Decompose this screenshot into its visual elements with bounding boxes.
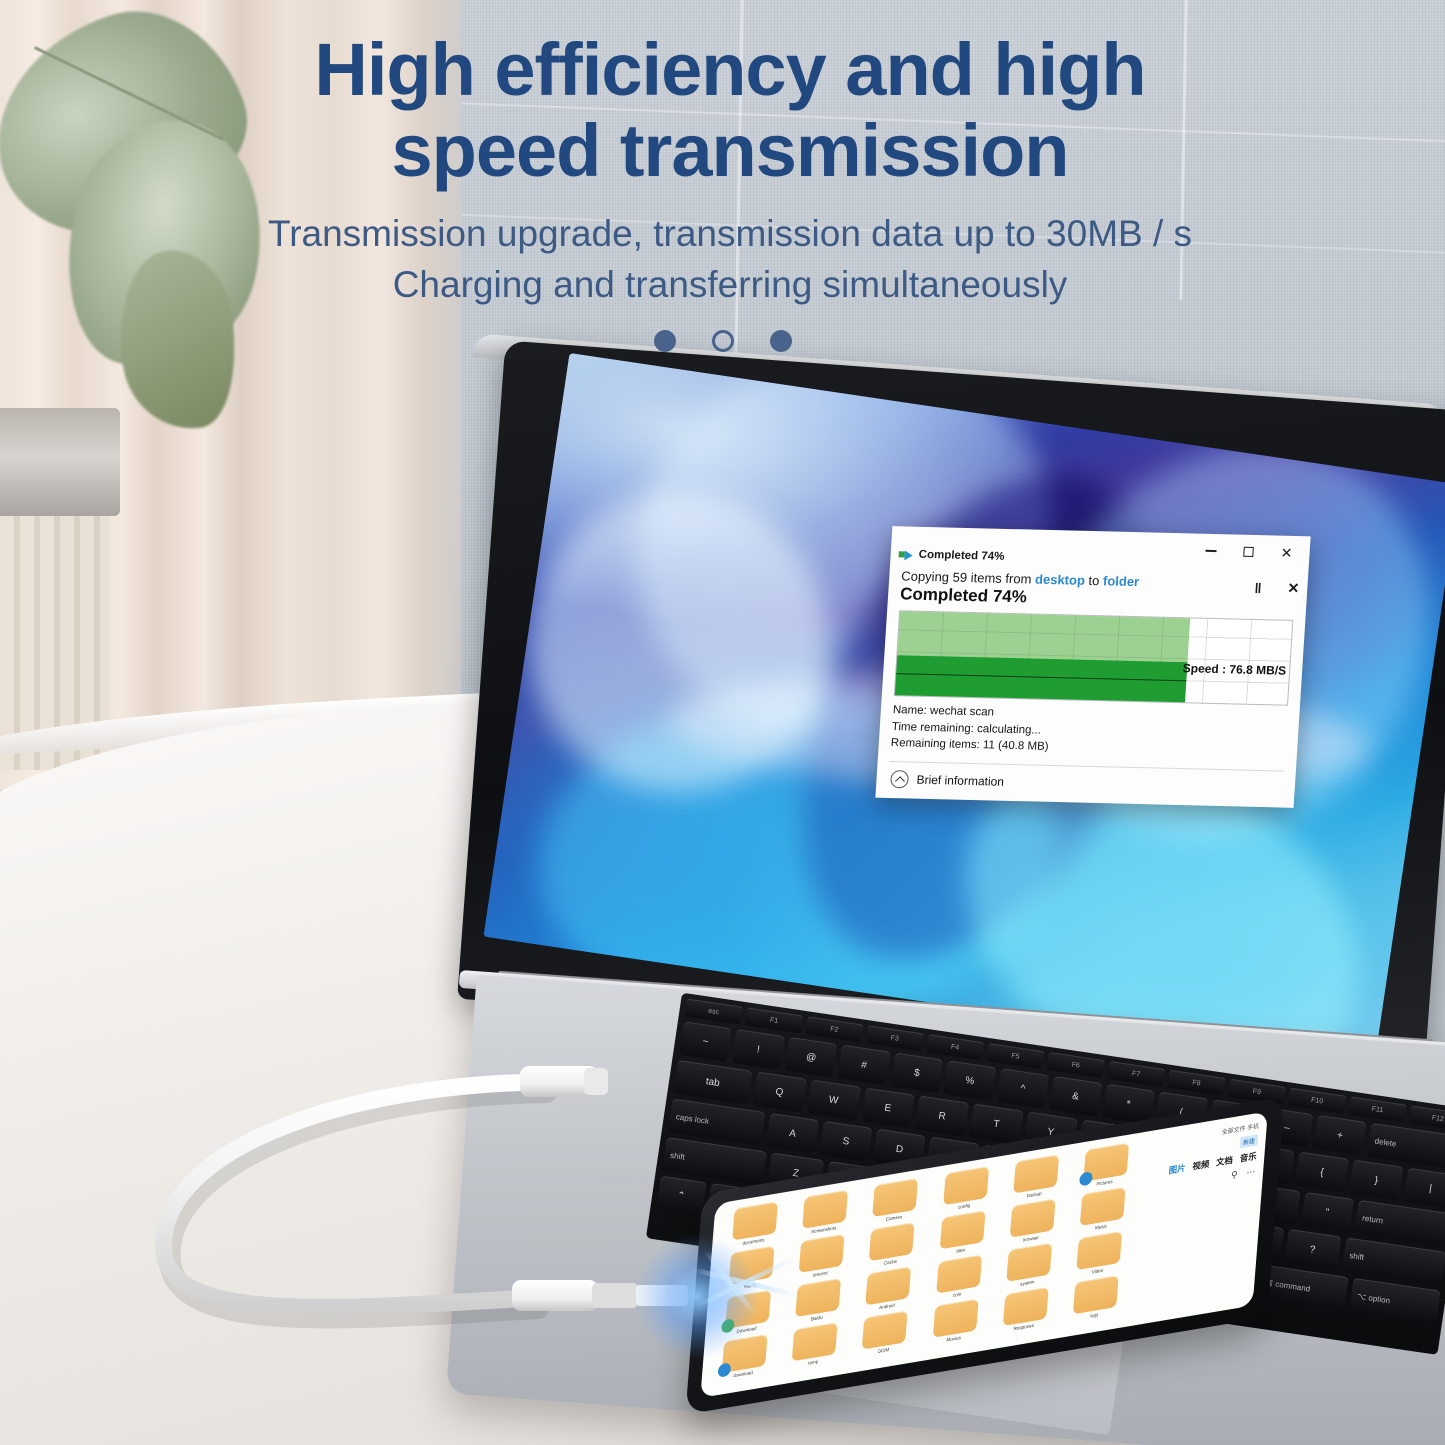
folder-icon[interactable] [862, 1310, 908, 1349]
key-s[interactable]: S [819, 1121, 872, 1162]
phone-tab-图片[interactable]: 图片 [1168, 1162, 1186, 1177]
folder-icon[interactable] [722, 1334, 768, 1373]
key--[interactable]: % [943, 1060, 996, 1101]
pause-button[interactable]: ‖ [1254, 580, 1262, 596]
chevron-up-icon[interactable] [890, 770, 909, 788]
progress-bar: Speed : 76.8 MB/S [894, 610, 1294, 705]
folder-label: Android [879, 1302, 895, 1310]
key-f1[interactable]: F1 [745, 1007, 803, 1033]
folder-label: Music [1095, 1223, 1107, 1230]
folder-icon[interactable] [866, 1266, 912, 1305]
key-f3[interactable]: F3 [866, 1025, 924, 1051]
folder-item[interactable]: Pictures [1073, 1141, 1139, 1191]
product-banner-scene: High efficiency and high speed transmiss… [0, 0, 1445, 1445]
folder-item[interactable]: Movies [922, 1297, 988, 1347]
key--[interactable]: + [1314, 1115, 1367, 1156]
folder-item[interactable]: Download [715, 1288, 781, 1338]
transfer-actions[interactable]: ‖ ✕ [1254, 579, 1300, 597]
key-f10[interactable]: F10 [1288, 1088, 1346, 1114]
folder-label: tencent [813, 1270, 828, 1278]
folder-label: DCIM [878, 1347, 890, 1354]
status-text: Completed 74% [918, 549, 1004, 563]
folder-item[interactable]: data [929, 1209, 995, 1259]
folder-label: temp [808, 1359, 818, 1366]
folder-icon[interactable] [1083, 1143, 1129, 1182]
folder-item[interactable]: Ringtones [992, 1285, 1058, 1335]
folder-label: download [733, 1370, 753, 1378]
minimize-button[interactable] [1191, 537, 1231, 564]
folder-icon[interactable] [732, 1201, 778, 1240]
copy-icon [898, 549, 914, 560]
folder-item[interactable]: download [711, 1332, 777, 1382]
folder-icon[interactable] [943, 1166, 989, 1205]
dialog-status-line: Completed 74% [898, 548, 1004, 563]
folder-item[interactable]: DCIM [852, 1309, 918, 1359]
phone-tab-视频[interactable]: 视频 [1192, 1158, 1210, 1173]
transfer-speed-label: Speed : 76.8 MB/S [1182, 661, 1286, 677]
folder-item[interactable]: Camera [862, 1176, 928, 1226]
maximize-button[interactable] [1229, 538, 1269, 565]
cancel-transfer-button[interactable]: ✕ [1287, 580, 1300, 597]
folder-icon[interactable] [1073, 1275, 1119, 1314]
source-link[interactable]: desktop [1035, 572, 1086, 588]
search-icon[interactable]: ⚲ [1231, 1169, 1238, 1181]
folder-label: data [956, 1247, 965, 1254]
cable-plug-laptop [520, 1066, 608, 1097]
key--[interactable]: ? [1284, 1229, 1341, 1270]
folder-item[interactable]: Screenshots [792, 1188, 858, 1238]
folder-item[interactable]: com [925, 1253, 991, 1303]
folder-icon[interactable] [873, 1178, 919, 1217]
phone-tab-音乐[interactable]: 音乐 [1239, 1150, 1257, 1165]
key--[interactable]: } [1349, 1160, 1403, 1201]
folder-label: config [958, 1203, 971, 1210]
key-f12[interactable]: F12 [1409, 1105, 1445, 1131]
key--[interactable]: ^ [996, 1068, 1049, 1109]
pagination-dot-1[interactable] [654, 330, 676, 352]
key--option[interactable]: ⌥ option [1349, 1278, 1441, 1324]
folder-item[interactable]: config [932, 1165, 998, 1215]
folder-icon[interactable] [1080, 1187, 1126, 1226]
file-manager-tools[interactable]: ⚲ ⋯ [1231, 1166, 1256, 1181]
folder-item[interactable]: Video [1066, 1229, 1132, 1279]
folder-label: system [1020, 1279, 1035, 1287]
folder-icon[interactable] [939, 1210, 985, 1249]
folder-label: documents [742, 1237, 765, 1246]
folder-icon[interactable] [869, 1222, 915, 1261]
key-w[interactable]: W [807, 1080, 861, 1121]
key-e[interactable]: E [861, 1088, 915, 1129]
key--[interactable]: | [1403, 1168, 1445, 1209]
file-manager-sidebar[interactable]: 全部文件 手机 新建 图片视频文档音乐 ⚲ ⋯ [1124, 1121, 1260, 1335]
folder-label: backup [1027, 1191, 1042, 1199]
folder-item[interactable]: Android [855, 1265, 921, 1315]
folder-item[interactable]: Music [1069, 1185, 1135, 1235]
folder-label: com [953, 1291, 962, 1298]
folder-icon[interactable] [792, 1322, 838, 1361]
folder-item[interactable]: Baidu [785, 1276, 851, 1326]
key--[interactable]: { [1295, 1152, 1349, 1193]
folder-label: Movies [946, 1335, 961, 1343]
key-f6[interactable]: F6 [1047, 1052, 1105, 1078]
key-f5[interactable]: F5 [986, 1043, 1044, 1069]
folder-icon[interactable] [795, 1278, 841, 1317]
folder-icon[interactable] [802, 1190, 848, 1229]
key--[interactable]: @ [785, 1037, 838, 1078]
folder-label: Ringtones [1013, 1323, 1034, 1332]
folder-icon[interactable] [932, 1299, 978, 1338]
transfer-details: Name: wechat scan Time remaining: calcul… [890, 702, 1287, 762]
new-folder-badge[interactable]: 新建 [1240, 1134, 1259, 1148]
cable-shadow [170, 1092, 546, 1317]
folder-icon[interactable] [1006, 1243, 1052, 1282]
folder-icon[interactable] [1013, 1154, 1059, 1193]
key--[interactable]: $ [891, 1053, 944, 1094]
folder-item[interactable]: documents [722, 1200, 788, 1250]
folder-icon[interactable] [1003, 1287, 1049, 1326]
phone-tab-文档[interactable]: 文档 [1216, 1154, 1234, 1169]
folder-icon[interactable] [1076, 1231, 1122, 1270]
copy-mid: to [1084, 573, 1103, 588]
key-f7[interactable]: F7 [1107, 1061, 1165, 1087]
file-copy-dialog[interactable]: ✕ Completed 74% ‖ ✕ Copying 59 items fro… [875, 526, 1310, 808]
brief-information-toggle[interactable]: Brief information [888, 762, 1284, 798]
pagination-dot-2[interactable] [712, 330, 734, 352]
window-controls[interactable]: ✕ [1191, 537, 1307, 566]
folder-icon[interactable] [799, 1234, 845, 1273]
folder-badge-icon [721, 1318, 735, 1334]
destination-link[interactable]: folder [1103, 573, 1140, 589]
folder-label: Pictures [1096, 1179, 1113, 1187]
folder-item[interactable]: Cache [859, 1220, 925, 1270]
key-t[interactable]: T [969, 1104, 1023, 1145]
folder-label: browser [1023, 1235, 1040, 1243]
folder-icon[interactable] [1010, 1199, 1056, 1238]
brief-information-label: Brief information [916, 773, 1004, 789]
folder-label: Video [1092, 1268, 1104, 1275]
more-icon[interactable]: ⋯ [1246, 1166, 1256, 1179]
pagination-dot-3[interactable] [770, 330, 792, 352]
folder-icon[interactable] [936, 1255, 982, 1294]
window-sill [0, 408, 120, 516]
folder-item[interactable]: system [996, 1241, 1062, 1291]
key-f4[interactable]: F4 [926, 1034, 984, 1060]
key-f8[interactable]: F8 [1167, 1070, 1225, 1096]
folder-item[interactable]: backup [1002, 1153, 1068, 1203]
folder-label: Cache [884, 1259, 898, 1266]
folder-badge-icon [1079, 1171, 1093, 1187]
key-f11[interactable]: F11 [1348, 1097, 1406, 1123]
folder-label: Baidu [811, 1315, 823, 1322]
folder-item[interactable]: tencent [788, 1232, 854, 1282]
dialog-body: ‖ ✕ Copying 59 items from desktop to fol… [876, 564, 1308, 798]
close-button[interactable]: ✕ [1267, 539, 1307, 566]
key-f2[interactable]: F2 [805, 1016, 863, 1042]
folder-badge-icon [718, 1362, 732, 1378]
folder-label: Download [736, 1326, 757, 1335]
cable-plug-phone [512, 1280, 688, 1311]
folder-item[interactable]: temp [781, 1321, 847, 1371]
key--[interactable]: & [1049, 1076, 1102, 1117]
usb-c-cable [140, 1040, 780, 1370]
key-r[interactable]: R [915, 1096, 969, 1137]
key--[interactable]: # [838, 1045, 891, 1086]
folder-item[interactable]: logs [1062, 1274, 1128, 1324]
folder-label: logs [1090, 1312, 1099, 1319]
folder-item[interactable]: browser [999, 1197, 1065, 1247]
key-esc[interactable]: esc [685, 999, 743, 1025]
carousel-pagination[interactable] [0, 330, 1445, 352]
key--[interactable]: " [1300, 1192, 1353, 1233]
folder-label: Camera [886, 1214, 903, 1222]
